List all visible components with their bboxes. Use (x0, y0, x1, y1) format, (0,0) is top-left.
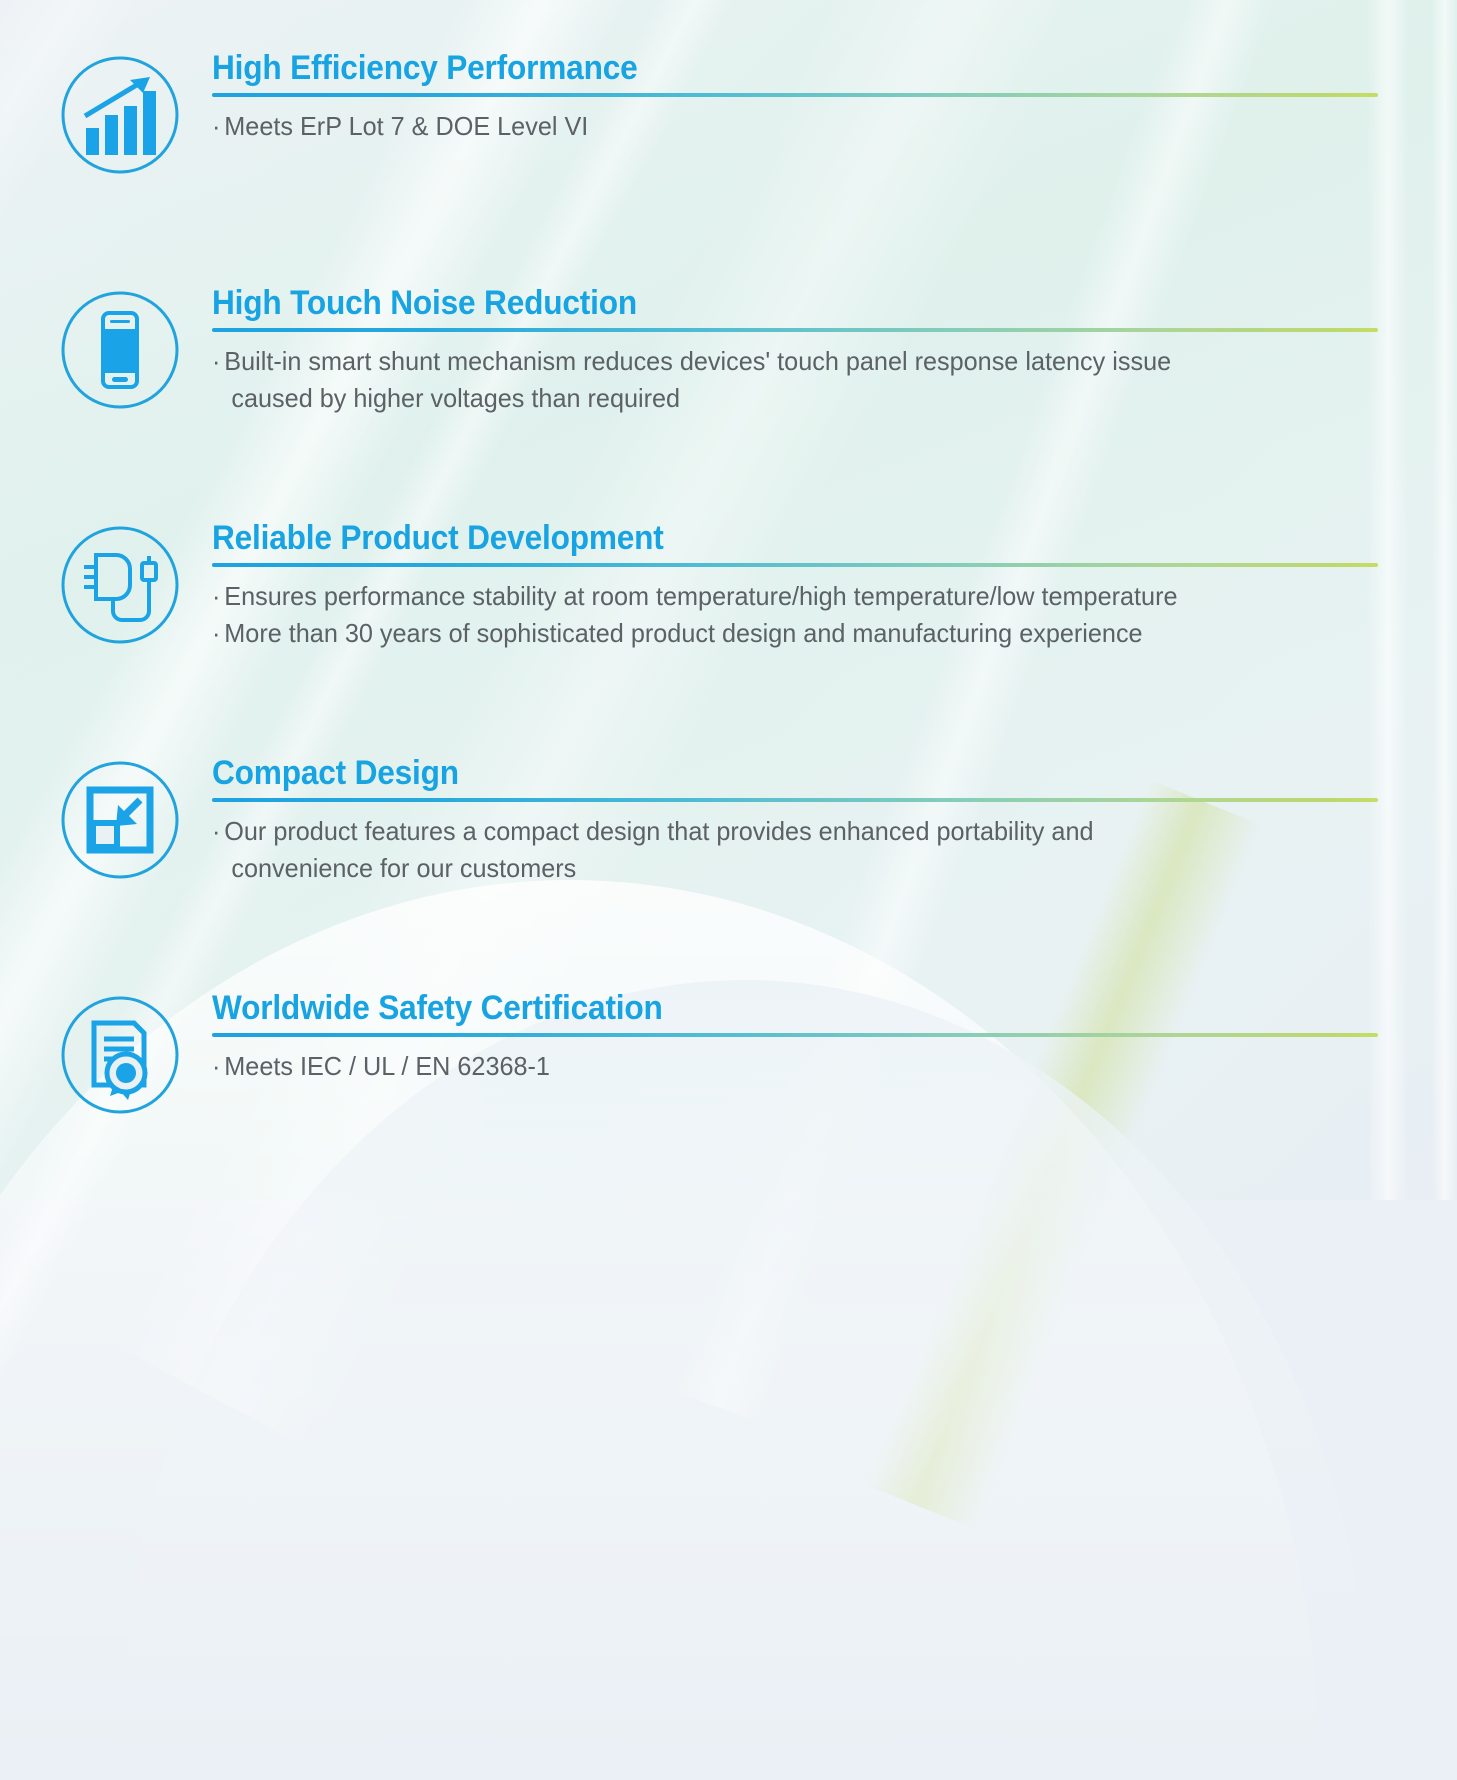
feature-divider (212, 93, 1378, 97)
feature-list: High Efficiency Performance ·Meets ErP L… (0, 0, 1457, 1200)
feature-body: Worldwide Safety Certification ·Meets IE… (212, 990, 1378, 1085)
feature-description-text: Ensures performance stability at room te… (224, 581, 1177, 611)
feature-body: High Touch Noise Reduction ·Built-in sma… (212, 285, 1378, 417)
feature-divider (212, 563, 1378, 567)
feature-description: ·Built-in smart shunt mechanism reduces … (212, 343, 1343, 417)
feature-description: ·Meets IEC / UL / EN 62368-1 (212, 1048, 1343, 1085)
feature-title: Reliable Product Development (212, 520, 1296, 556)
bullet-marker: · (212, 1051, 220, 1081)
bullet-marker: · (212, 581, 220, 611)
feature-divider (212, 798, 1378, 802)
feature-description-text: Meets ErP Lot 7 & DOE Level VI (224, 111, 588, 141)
bullet-marker: · (212, 618, 220, 648)
feature-description-line: ·Meets ErP Lot 7 & DOE Level VI (212, 108, 1343, 145)
feature-description-text: Built-in smart shunt mechanism reduces d… (224, 346, 1171, 376)
resize-compact-icon (55, 755, 185, 885)
feature-description: ·Ensures performance stability at room t… (212, 578, 1343, 652)
feature-description-line: convenience for our customers (212, 850, 1343, 887)
feature-body: Reliable Product Development ·Ensures pe… (212, 520, 1378, 652)
feature-description-line: ·Ensures performance stability at room t… (212, 578, 1343, 615)
feature-description-line: ·Meets IEC / UL / EN 62368-1 (212, 1048, 1343, 1085)
feature-body: High Efficiency Performance ·Meets ErP L… (212, 50, 1378, 145)
feature-description-text: More than 30 years of sophisticated prod… (224, 618, 1142, 648)
feature-description-text: Meets IEC / UL / EN 62368-1 (224, 1051, 550, 1081)
feature-title: Compact Design (212, 755, 1296, 791)
feature-title: High Efficiency Performance (212, 50, 1296, 86)
feature-description-text: convenience for our customers (231, 853, 576, 883)
feature-description: ·Our product features a compact design t… (212, 813, 1343, 887)
feature-description-line: ·More than 30 years of sophisticated pro… (212, 615, 1343, 652)
feature-title: Worldwide Safety Certification (212, 990, 1296, 1026)
feature-description-line: ·Our product features a compact design t… (212, 813, 1343, 850)
feature-divider (212, 328, 1378, 332)
feature-description-line: caused by higher voltages than required (212, 380, 1343, 417)
feature-description-text: Our product features a compact design th… (224, 816, 1093, 846)
certificate-award-icon (55, 990, 185, 1120)
feature-title: High Touch Noise Reduction (212, 285, 1296, 321)
power-adapter-icon (55, 520, 185, 650)
bullet-marker: · (212, 346, 220, 376)
smartphone-icon (55, 285, 185, 415)
feature-description-text: caused by higher voltages than required (231, 383, 680, 413)
feature-divider (212, 1033, 1378, 1037)
bullet-marker: · (212, 111, 220, 141)
feature-description: ·Meets ErP Lot 7 & DOE Level VI (212, 108, 1343, 145)
feature-description-line: ·Built-in smart shunt mechanism reduces … (212, 343, 1343, 380)
bullet-marker: · (212, 816, 220, 846)
growth-bar-chart-icon (55, 50, 185, 180)
feature-body: Compact Design ·Our product features a c… (212, 755, 1378, 887)
